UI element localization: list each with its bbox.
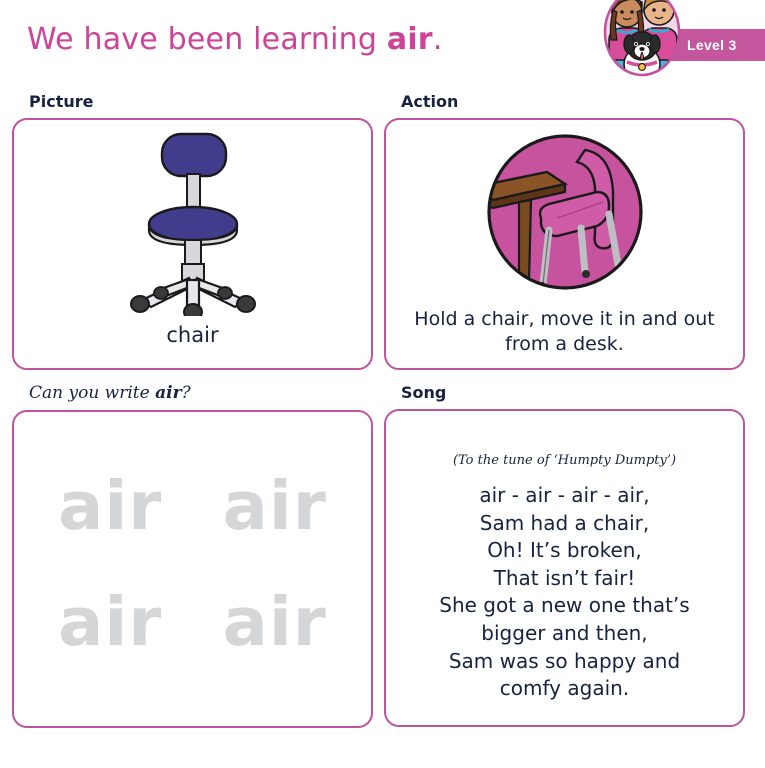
two-children-with-dog-icon <box>601 0 683 80</box>
page-title-phoneme: air <box>387 22 433 57</box>
write-heading-suffix: ? <box>182 383 191 403</box>
picture-word-label: chair <box>166 323 218 347</box>
song-lyric-line: bigger and then, <box>439 620 689 648</box>
worksheet-row-top: Picture <box>12 92 753 370</box>
song-lyric-line: Oh! It’s broken, <box>439 537 689 565</box>
trace-word[interactable]: air <box>223 473 327 540</box>
picture-panel: chair <box>12 118 373 370</box>
action-caption: Hold a chair, move it in and out from a … <box>386 307 743 357</box>
song-section: Song (To the tune of ‘Humpty Dumpty’) ai… <box>384 383 745 728</box>
write-section: Can you write air? air air air air <box>12 383 373 728</box>
action-heading: Action <box>401 92 745 111</box>
swivel-chair-icon <box>118 128 268 321</box>
picture-heading: Picture <box>29 92 373 111</box>
page-header: We have been learning air. <box>0 0 765 92</box>
write-heading-phoneme: air <box>155 383 181 403</box>
trace-word[interactable]: air <box>223 589 327 656</box>
page-title-suffix: . <box>433 22 443 57</box>
song-tune-note: (To the tune of ‘Humpty Dumpty’) <box>453 453 676 468</box>
desk-and-chair-circle-icon <box>485 132 645 297</box>
picture-section: Picture <box>12 92 373 370</box>
page-title: We have been learning air. <box>27 22 443 57</box>
song-lyric-line: That isn’t fair! <box>439 565 689 593</box>
song-lyric-line: Sam was so happy and <box>439 648 689 676</box>
write-heading-prefix: Can you write <box>29 383 155 403</box>
song-lyric-line: She got a new one that’s <box>439 592 689 620</box>
action-section: Action <box>384 92 745 370</box>
action-panel: Hold a chair, move it in and out from a … <box>384 118 745 370</box>
worksheet-body: Picture <box>0 92 765 728</box>
song-lyric-line: Sam had a chair, <box>439 510 689 538</box>
page-title-prefix: We have been learning <box>27 22 387 57</box>
trace-word[interactable]: air <box>58 589 162 656</box>
write-heading: Can you write air? <box>29 383 373 403</box>
trace-word[interactable]: air <box>58 473 162 540</box>
worksheet-row-bottom: Can you write air? air air air air Song … <box>12 383 753 728</box>
song-heading: Song <box>401 383 745 402</box>
song-panel: (To the tune of ‘Humpty Dumpty’) air - a… <box>384 409 745 727</box>
song-lyric-line: air - air - air - air, <box>439 482 689 510</box>
song-lyrics: air - air - air - air, Sam had a chair, … <box>439 482 689 703</box>
write-panel[interactable]: air air air air <box>12 410 373 728</box>
song-lyric-line: comfy again. <box>439 675 689 703</box>
